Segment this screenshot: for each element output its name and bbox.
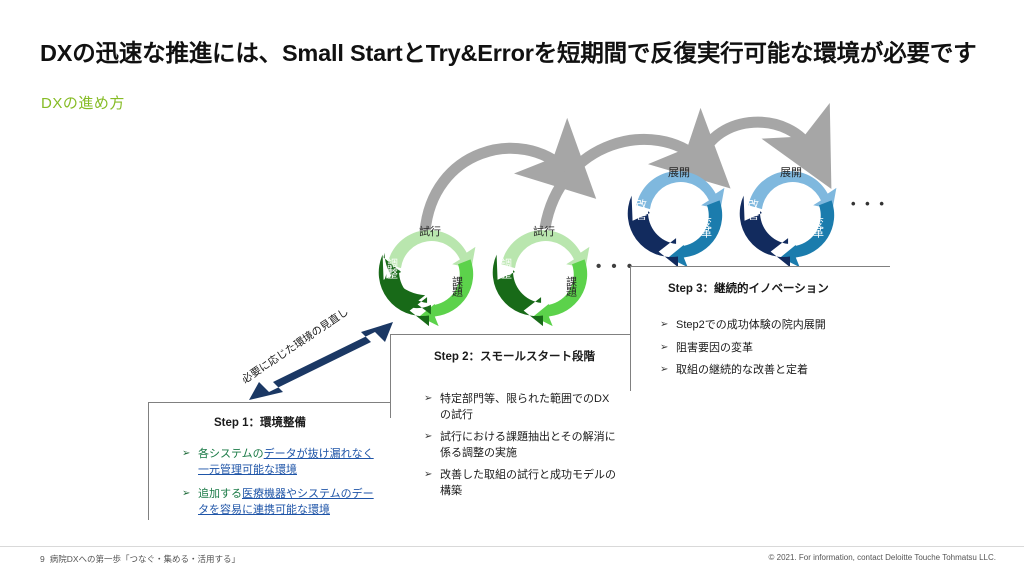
list-item: ➢ 追加する医療機器やシステムのデータを容易に連携可能な環境 [182,487,380,518]
bracket-step3-top [630,266,890,268]
bullet-marker-icon: ➢ [660,318,668,332]
bracket-step1-left [148,402,150,520]
segment-rollout [748,171,836,209]
bracket-step3-left [630,266,632,391]
list-item: ➢ 改善した取組の試行と成功モデルの構築 [424,468,616,499]
bullet-marker-icon: ➢ [182,487,190,501]
bullet-text-plain: 各システムの [198,448,264,460]
bullet-text: 特定部門等、限られた範囲でのDXの試行 [440,393,609,421]
list-item: ➢ 特定部門等、限られた範囲でのDXの試行 [424,392,616,423]
segment-trial [501,230,589,268]
cycle-wheel-green-2: 試行 調整 課題 [485,214,601,330]
bullet-text: 改善した取組の試行と成功モデルの構築 [440,469,616,497]
cycle-wheel-blue-2: 展開 改善 変革 [732,155,848,271]
bullet-text: 試行における課題抽出とその解消に係る調整の実施 [440,431,616,459]
bullet-marker-icon: ➢ [424,468,432,482]
ellipsis-blue: • • • [851,196,887,211]
cycle-wheel-blue-1: 展開 改善 変革 [620,155,736,271]
page-subtitle: DXの進め方 [41,92,125,113]
bullet-text: Step2での成功体験の院内展開 [676,319,826,331]
footer-left-text: 病院DXへの第一歩「つなぐ・集める・活用する」 [50,554,240,564]
list-item: ➢ 阻害要因の変革 [660,341,890,357]
page-number: 9 [40,554,45,564]
list-item: ➢ Step2での成功体験の院内展開 [660,318,890,334]
footer-copyright: © 2021. For information, contact Deloitt… [769,553,997,562]
step3-bullets: ➢ Step2での成功体験の院内展開 ➢ 阻害要因の変革 ➢ 取組の継続的な改善… [660,318,890,386]
bullet-text-plain: 追加する [198,488,242,500]
page-title: DXの迅速な推進には、Small StartとTry&Errorを短期間で反復実… [40,34,990,68]
footer-left: 9病院DXへの第一歩「つなぐ・集める・活用する」 [40,553,240,565]
segment-trial [387,230,475,268]
list-item: ➢ 各システムのデータが抜け漏れなく一元管理可能な環境 [182,447,380,478]
bullet-text: 取組の継続的な改善と定着 [676,364,808,376]
bullet-marker-icon: ➢ [424,430,432,444]
segment-rollout [636,171,724,209]
step3-heading: Step 3：継続的イノベーション [668,280,829,296]
step2-bullets: ➢ 特定部門等、限られた範囲でのDXの試行 ➢ 試行における課題抽出とその解消に… [424,392,616,507]
bullet-marker-icon: ➢ [660,363,668,377]
bullet-text: 阻害要因の変革 [676,342,753,354]
list-item: ➢ 取組の継続的な改善と定着 [660,363,890,379]
bullet-marker-icon: ➢ [424,392,432,406]
footer-divider [0,546,1024,547]
bullet-marker-icon: ➢ [660,341,668,355]
step2-heading: Step 2：スモールスタート段階 [434,348,595,364]
list-item: ➢ 試行における課題抽出とその解消に係る調整の実施 [424,430,616,461]
slide-canvas: DXの迅速な推進には、Small StartとTry&Errorを短期間で反復実… [0,0,1024,577]
bullet-marker-icon: ➢ [182,447,190,461]
bracket-step2-top [390,334,630,336]
step1-bullets: ➢ 各システムのデータが抜け漏れなく一元管理可能な環境 ➢ 追加する医療機器やシ… [182,447,380,527]
cycle-wheel-green-1: 試行 調整 課題 [371,214,487,330]
step1-heading: Step 1：環境整備 [214,414,306,430]
